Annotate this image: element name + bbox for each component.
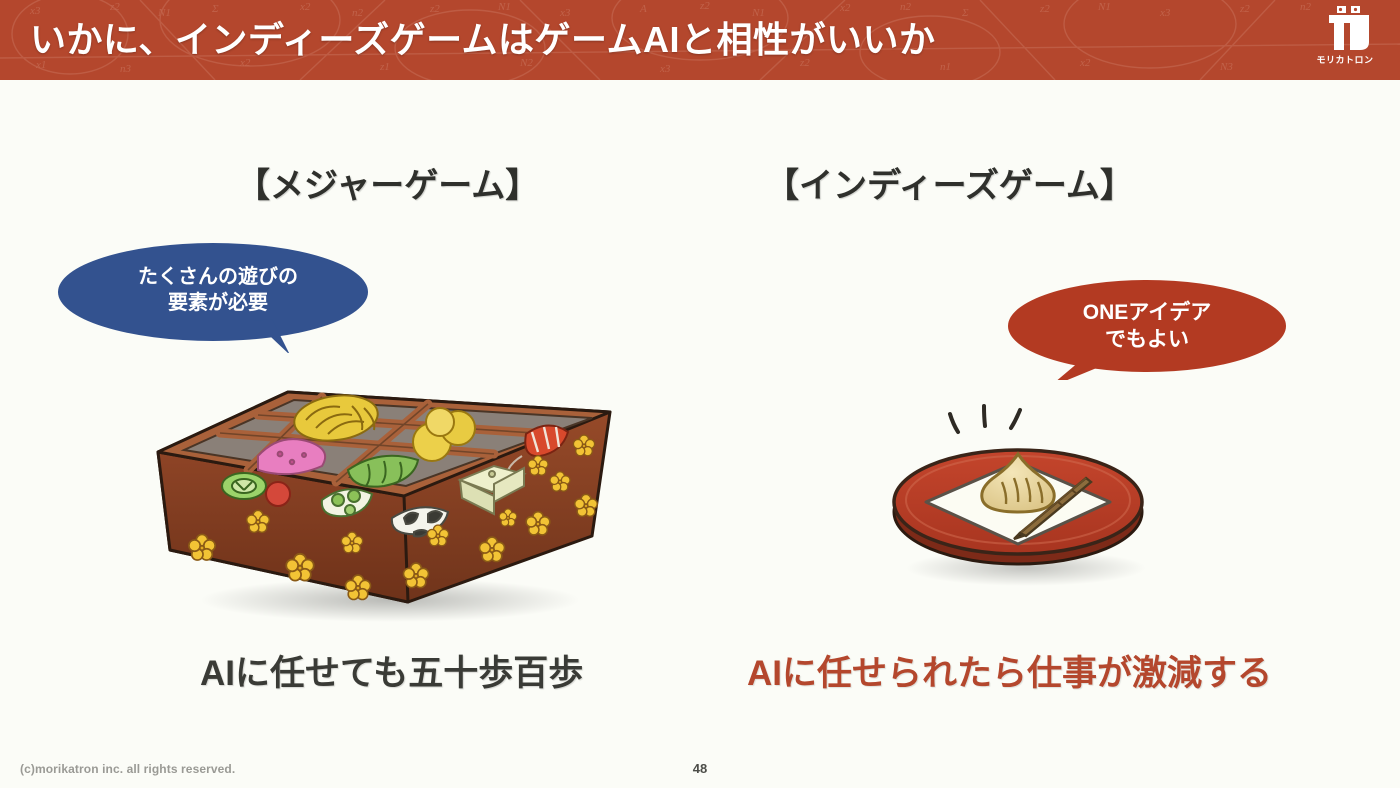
speech-bubble-red-shape-icon <box>1008 280 1286 380</box>
speech-bubble-indies: ONEアイデア でもよい <box>1008 280 1286 380</box>
brand-logo: モリカトロン <box>1308 4 1382 76</box>
caption-indies-game: AIに任せられたら仕事が激減する <box>747 645 1272 696</box>
morikatron-logo-icon <box>1313 4 1377 52</box>
caption-major-game: AIに任せても五十歩百歩 <box>200 645 583 696</box>
heading-major-game: 【メジャーゲーム】 <box>236 158 539 207</box>
svg-text:z2: z2 <box>1239 3 1250 15</box>
svg-text:N3: N3 <box>1219 61 1233 73</box>
svg-text:Σ: Σ <box>961 7 969 19</box>
page-title: いかに、インディーズゲームはゲームAIと相性がいいか <box>30 10 935 70</box>
svg-text:n1: n1 <box>940 61 951 73</box>
svg-text:x3: x3 <box>1159 7 1171 19</box>
heading-indies-game: 【インディーズゲーム】 <box>765 158 1134 207</box>
brand-name: モリカトロン <box>1308 53 1382 66</box>
svg-text:z2: z2 <box>1039 3 1050 15</box>
bento-box-osechi-icon <box>140 300 640 630</box>
svg-text:N1: N1 <box>1097 1 1111 13</box>
page-number: 48 <box>0 761 1400 776</box>
slide-header: x3z2N1 Σx2n2 z2N1x3 Az2N1 x2n2Σ z2N1x3 z… <box>0 0 1400 80</box>
red-plate-manju-icon <box>860 390 1180 590</box>
svg-text:x2: x2 <box>1079 57 1091 69</box>
